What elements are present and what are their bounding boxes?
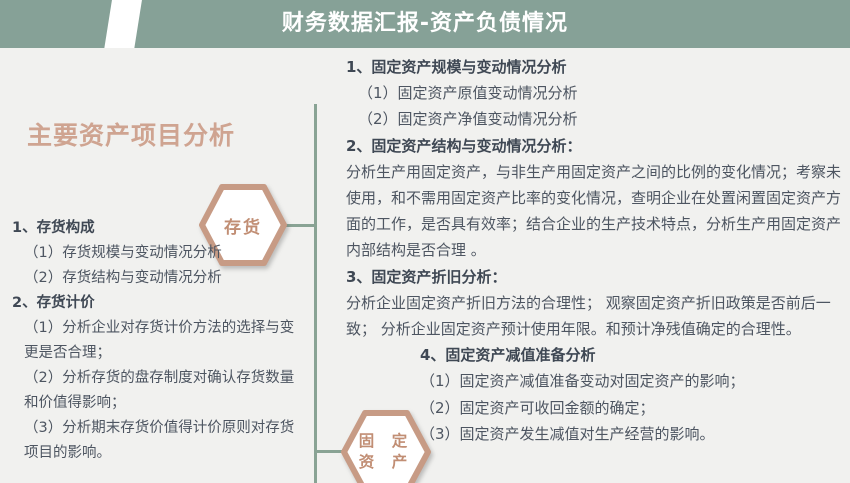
slide-canvas: 财务数据汇报-资产负债情况 主要资产项目分析 存货 1、存货构成（1）存货规模与… <box>0 0 850 483</box>
left-content-list: 1、存货构成（1）存货规模与变动情况分析（2）存货结构与变动情况分析2、存货计价… <box>12 216 304 466</box>
header-band: 财务数据汇报-资产负债情况 <box>0 0 850 48</box>
right-content-line: （2）固定资产净值变动情况分析 <box>346 106 846 132</box>
page-title: 财务数据汇报-资产负债情况 <box>0 0 850 48</box>
left-content-line: （1）存货规模与变动情况分析 <box>12 241 304 266</box>
right-content-line: （1）固定资产减值准备变动对固定资产的影响； <box>346 368 846 394</box>
slide-body: 主要资产项目分析 存货 1、存货构成（1）存货规模与变动情况分析（2）存货结构与… <box>0 48 850 483</box>
hexagon-fixed-assets[interactable]: 固 定 资 产 <box>341 410 431 483</box>
right-content-line: 4、固定资产减值准备分析 <box>346 342 846 368</box>
right-content-line: 分析生产用固定资产，与非生产用固定资产之间的比例的变化情况；考察未使用，和不需用… <box>346 159 846 264</box>
left-content-line: （2）存货结构与变动情况分析 <box>12 266 304 291</box>
right-content-line: （1）固定资产原值变动情况分析 <box>346 80 846 106</box>
left-content-line: 2、存货计价 <box>12 291 304 316</box>
left-content-line: 1、存货构成 <box>12 216 304 241</box>
left-content-line: （3）分析期末存货价值得计价原则对存货项目的影响。 <box>12 416 304 466</box>
left-section-title: 主要资产项目分析 <box>27 116 235 152</box>
right-content-line: 2、固定资产结构与变动情况分析： <box>346 133 846 159</box>
right-content-line: 1、固定资产规模与变动情况分析 <box>346 54 846 80</box>
hexagon-fixed-assets-shape <box>341 410 431 483</box>
right-content-line: 3、固定资产折旧分析： <box>346 264 846 290</box>
left-content-line: （1）分析企业对存货计价方法的选择与变更是否合理； <box>12 316 304 366</box>
right-content-list: 1、固定资产规模与变动情况分析（1）固定资产原值变动情况分析（2）固定资产净值变… <box>346 54 846 447</box>
connector-trunk-vertical <box>314 104 317 483</box>
left-content-line: （2）分析存货的盘存制度对确认存货数量和价值得影响； <box>12 366 304 416</box>
right-content-line: 分析企业固定资产折旧方法的合理性； 观察固定资产折旧政策是否前后一致； 分析企业… <box>346 290 846 342</box>
